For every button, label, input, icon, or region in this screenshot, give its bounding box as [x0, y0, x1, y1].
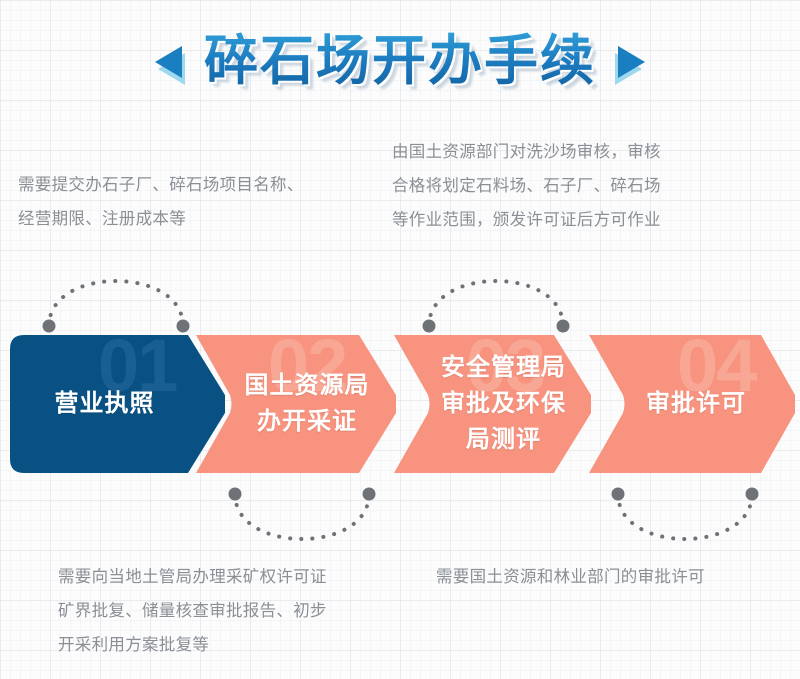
- connector-arc-top-left: [36, 258, 196, 338]
- connector-arc-bottom-left: [222, 482, 382, 562]
- connector-arc-top-right: [416, 258, 576, 338]
- description-line: 由国土资源部门对洗沙场审核，审核: [392, 135, 744, 169]
- step-label-line: 局测评: [466, 422, 541, 458]
- process-step-1[interactable]: 01 营业执照: [10, 335, 225, 473]
- triangle-right-icon: [612, 43, 646, 83]
- step-label: 审批许可: [589, 335, 795, 473]
- step-label: 营业执照: [10, 335, 225, 473]
- description-line: 等作业范围，颁发许可证后方可作业: [392, 203, 744, 237]
- step-label-line: 审批许可: [646, 386, 746, 422]
- description-line: 合格将划定石料场、石子厂、碎石场: [392, 169, 744, 203]
- step-label: 安全管理局 审批及环保 局测评: [394, 335, 591, 473]
- description-bottom-left: 需要向当地土管局办理采矿权许可证 矿界批复、储量核查审批报告、初步 开采利用方案…: [58, 560, 410, 662]
- step-label-line: 营业执照: [55, 386, 155, 422]
- step-label-line: 安全管理局: [441, 350, 566, 386]
- process-steps: 01 营业执照 02 国土资源局 办开采证 03 安全管理局 审批及环: [0, 335, 800, 473]
- step-label: 国土资源局 办开采证: [196, 335, 396, 473]
- page-header: 碎石场开办手续: [0, 18, 800, 108]
- step-label-line: 审批及环保: [441, 386, 566, 422]
- triangle-left-icon: [154, 43, 188, 83]
- process-step-2[interactable]: 02 国土资源局 办开采证: [196, 335, 396, 473]
- infographic-root: 碎石场开办手续 需要提交办石子厂、碎石场项目名称、 经营期限、注册成本等 由国土…: [0, 0, 800, 679]
- description-line: 经营期限、注册成本等: [18, 202, 378, 236]
- process-step-4[interactable]: 04 审批许可: [589, 335, 795, 473]
- process-step-3[interactable]: 03 安全管理局 审批及环保 局测评: [394, 335, 591, 473]
- description-line: 需要国土资源和林业部门的审批许可: [436, 560, 788, 594]
- step-label-line: 国土资源局: [245, 368, 370, 404]
- description-top-right: 由国土资源部门对洗沙场审核，审核 合格将划定石料场、石子厂、碎石场 等作业范围，…: [392, 135, 744, 237]
- step-label-line: 办开采证: [257, 404, 357, 440]
- description-bottom-right: 需要国土资源和林业部门的审批许可: [436, 560, 788, 594]
- page-title: 碎石场开办手续: [202, 30, 598, 96]
- description-line: 需要提交办石子厂、碎石场项目名称、: [18, 168, 378, 202]
- description-line: 需要向当地土管局办理采矿权许可证: [58, 560, 410, 594]
- description-line: 开采利用方案批复等: [58, 628, 410, 662]
- description-top-left: 需要提交办石子厂、碎石场项目名称、 经营期限、注册成本等: [18, 168, 378, 236]
- connector-arc-bottom-right: [605, 482, 765, 562]
- description-line: 矿界批复、储量核查审批报告、初步: [58, 594, 410, 628]
